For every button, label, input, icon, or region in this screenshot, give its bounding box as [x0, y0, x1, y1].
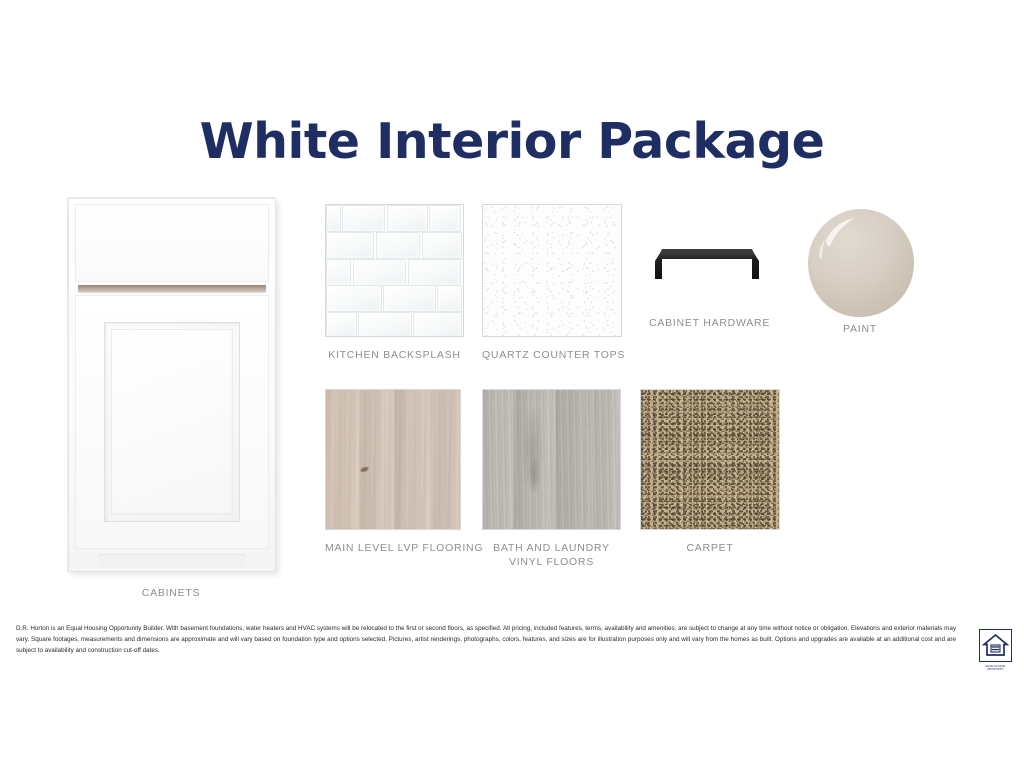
swatch-quartz-counter-tops: QUARTZ COUNTER TOPS — [482, 204, 625, 362]
cabinet-hardware-image — [649, 204, 765, 314]
paint-image — [805, 206, 915, 318]
swatch-carpet: CARPET — [640, 389, 780, 555]
lvp-knot-detail — [359, 466, 369, 474]
swatch-paint: PAINT — [805, 206, 915, 336]
equal-housing-opportunity-logo: EQUAL HOUSING OPPORTUNITY — [979, 629, 1012, 662]
bath-laundry-vinyl-image — [482, 389, 621, 530]
vinyl-grain-detail — [505, 402, 561, 520]
swatch-label-main-level-lvp: MAIN LEVEL LVP FLOORING — [325, 541, 483, 555]
cabinet-shaker-frame — [104, 322, 240, 522]
cabinet-lower-door — [75, 295, 269, 549]
cabinet-drawer-front — [75, 204, 269, 282]
cabinet-swatch: CABINETS — [56, 198, 286, 599]
swatch-kitchen-backsplash: KITCHEN BACKSPLASH — [325, 204, 464, 362]
page-title: White Interior Package — [0, 112, 1024, 172]
kitchen-backsplash-image — [325, 204, 464, 337]
legal-disclaimer: D.R. Horton is an Equal Housing Opportun… — [16, 623, 956, 657]
swatch-label-bath-laundry-vinyl-line1: BATH AND LAUNDRY — [482, 541, 621, 555]
eho-caption-line2: OPPORTUNITY — [980, 669, 1011, 672]
swatch-cabinet-hardware: CABINET HARDWARE — [649, 204, 770, 330]
swatch-label-bath-laundry-vinyl-line2: VINYL FLOORS — [482, 555, 621, 569]
cabinet-base-rail — [99, 554, 245, 567]
main-level-lvp-image — [325, 389, 461, 530]
house-icon — [980, 630, 1011, 661]
interior-package-board: White Interior Package CABINETS — [0, 0, 1024, 768]
cabinet-label: CABINETS — [56, 587, 286, 599]
swatch-label-carpet: CARPET — [640, 541, 780, 555]
quartz-counter-tops-image — [482, 204, 622, 337]
swatch-label-quartz-counter-tops: QUARTZ COUNTER TOPS — [482, 348, 625, 362]
cabinet-center-panel — [111, 329, 233, 515]
carpet-image — [640, 389, 780, 530]
cabinet-pull-icon — [649, 204, 765, 314]
cabinet-reveal-line — [78, 285, 266, 292]
swatch-label-kitchen-backsplash: KITCHEN BACKSPLASH — [325, 348, 464, 362]
swatch-label-paint: PAINT — [805, 322, 915, 336]
cabinet-door-image — [68, 198, 276, 572]
swatch-bath-laundry-vinyl: BATH AND LAUNDRY VINYL FLOORS — [482, 389, 621, 569]
swatch-label-cabinet-hardware: CABINET HARDWARE — [649, 316, 770, 330]
swatch-main-level-lvp: MAIN LEVEL LVP FLOORING — [325, 389, 483, 555]
paint-blob-icon — [805, 206, 917, 320]
